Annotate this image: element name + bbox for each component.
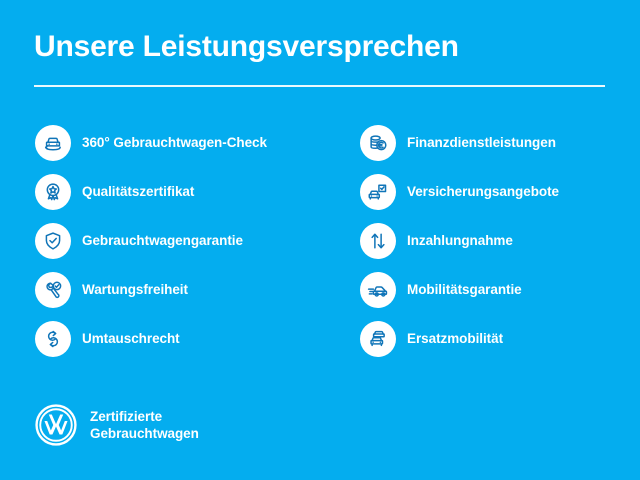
promise-item-mobility-guarantee: Mobilitätsgarantie [360,265,630,314]
promise-label: Mobilitätsgarantie [407,281,522,298]
coins-euro-icon [360,125,396,161]
promise-label: Qualitätszertifikat [82,183,194,200]
award-rosette-icon [35,174,71,210]
promise-item-360-check: 360° Gebrauchtwagen-Check [35,118,335,167]
car-speed-icon [360,272,396,308]
promise-label: Finanzdienstleistungen [407,134,556,151]
page-title: Unsere Leistungsversprechen [34,30,459,64]
promise-item-quality-certificate: Qualitätszertifikat [35,167,335,216]
promise-label: Ersatzmobilität [407,330,503,347]
wrench-check-icon [35,272,71,308]
exchange-arrows-icon [35,321,71,357]
brand-lockup: Zertifizierte Gebrauchtwagen [34,403,199,447]
car-document-icon [360,174,396,210]
promise-label: Gebrauchtwagengarantie [82,232,243,249]
brand-line-1: Zertifizierte [90,408,199,425]
promise-column-left: 360° Gebrauchtwagen-Check Qualitätszerti… [35,118,335,363]
promise-label: 360° Gebrauchtwagen-Check [82,134,267,151]
promise-item-insurance-offers: Versicherungsangebote [360,167,630,216]
car-360-check-icon [35,125,71,161]
shield-check-icon [35,223,71,259]
two-cars-icon [360,321,396,357]
brand-line-2: Gebrauchtwagen [90,425,199,442]
arrows-up-down-icon [360,223,396,259]
brand-text: Zertifizierte Gebrauchtwagen [90,408,199,442]
promise-label: Versicherungsangebote [407,183,559,200]
promise-item-exchange-right: Umtauschrecht [35,314,335,363]
promise-item-financial-services: Finanzdienstleistungen [360,118,630,167]
promise-item-warranty: Gebrauchtwagengarantie [35,216,335,265]
promise-label: Inzahlungnahme [407,232,513,249]
title-divider [34,85,605,87]
promise-item-maintenance-free: Wartungsfreiheit [35,265,335,314]
promise-item-replacement-mobility: Ersatzmobilität [360,314,630,363]
promise-column-right: Finanzdienstleistungen Versicheru [360,118,630,363]
promise-label: Umtauschrecht [82,330,180,347]
promise-panel: Unsere Leistungsversprechen 360° Gebrauc… [0,0,640,480]
promise-item-trade-in: Inzahlungnahme [360,216,630,265]
promise-label: Wartungsfreiheit [82,281,188,298]
volkswagen-logo-icon [34,403,78,447]
